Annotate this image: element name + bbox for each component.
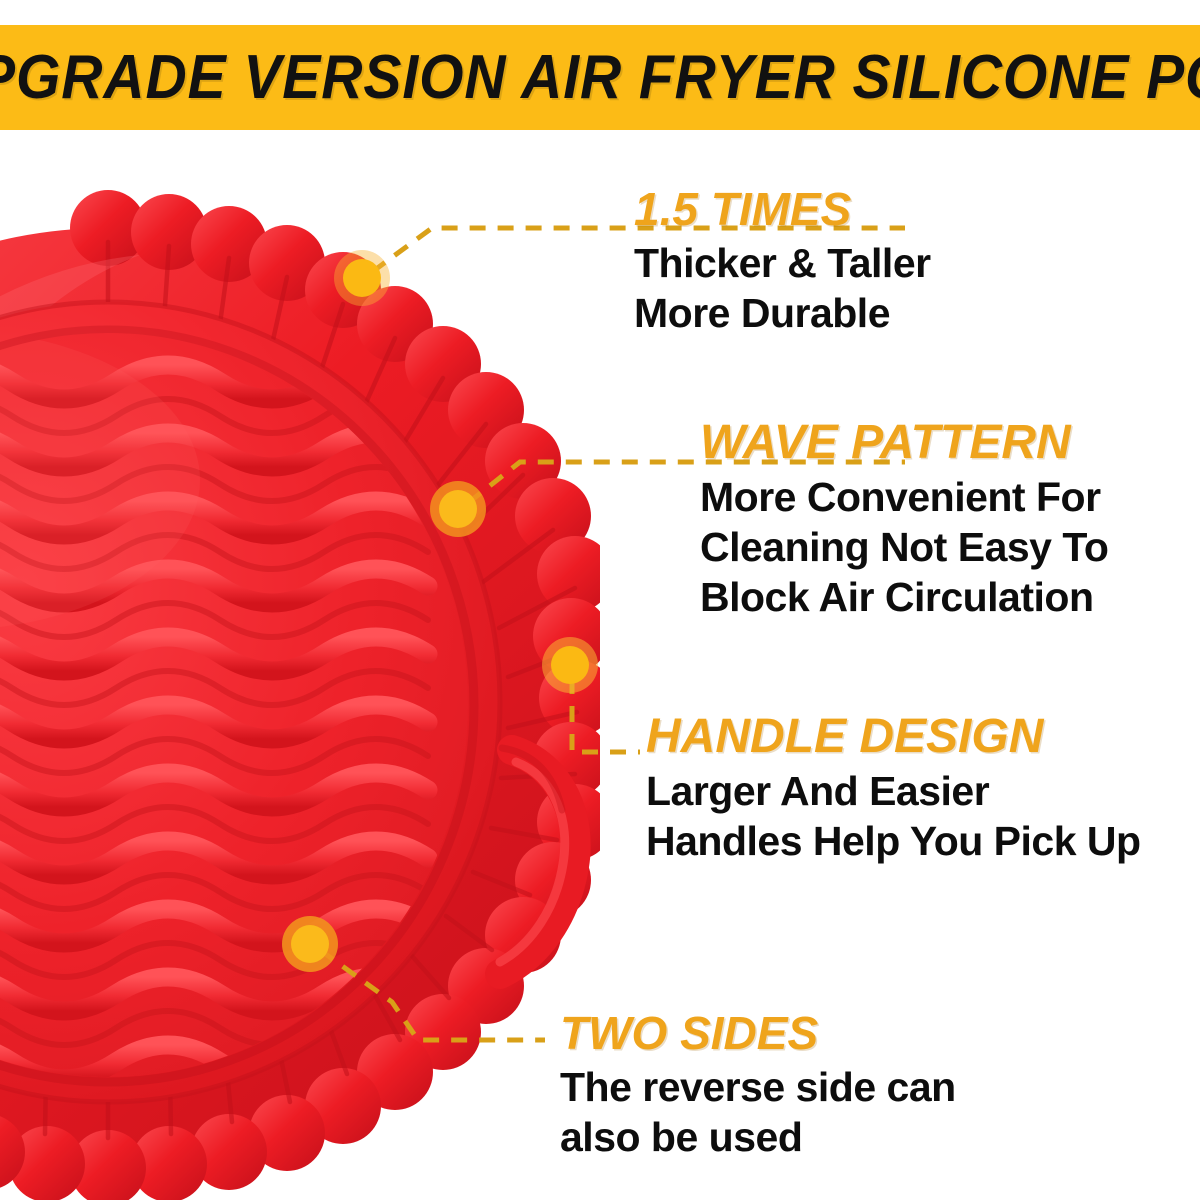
feature-title-1: 1.5 TIMES [634, 184, 931, 234]
feature-line: Cleaning Not Easy To [700, 522, 1108, 572]
infographic-canvas: UPGRADE VERSION AIR FRYER SILICONE POT [0, 0, 1200, 1200]
feature-body-2: More Convenient For Cleaning Not Easy To… [700, 472, 1108, 622]
feature-block-3: HANDLE DESIGN Larger And Easier Handles … [646, 712, 1141, 866]
feature-block-4: TWO SIDES The reverse side can also be u… [560, 1008, 956, 1162]
feature-block-2: WAVE PATTERN More Convenient For Cleanin… [700, 418, 1108, 622]
feature-title-3: HANDLE DESIGN [646, 712, 1141, 762]
feature-body-3: Larger And Easier Handles Help You Pick … [646, 766, 1141, 866]
feature-line: The reverse side can [560, 1062, 956, 1112]
feature-line: Thicker & Taller [634, 238, 931, 288]
product-illustration [0, 150, 600, 1200]
feature-title-4: TWO SIDES [560, 1008, 956, 1058]
feature-body-1: Thicker & Taller More Durable [634, 238, 931, 338]
feature-line: More Durable [634, 288, 931, 338]
feature-line: Handles Help You Pick Up [646, 816, 1141, 866]
feature-body-4: The reverse side can also be used [560, 1062, 956, 1162]
feature-block-1: 1.5 TIMES Thicker & Taller More Durable [634, 184, 931, 338]
feature-title-2: WAVE PATTERN [700, 418, 1108, 468]
feature-line: Larger And Easier [646, 766, 1141, 816]
banner-title: UPGRADE VERSION AIR FRYER SILICONE POT [0, 47, 1200, 109]
header-banner: UPGRADE VERSION AIR FRYER SILICONE POT [0, 25, 1200, 130]
feature-line: Block Air Circulation [700, 572, 1108, 622]
feature-line: More Convenient For [700, 472, 1108, 522]
feature-line: also be used [560, 1112, 956, 1162]
